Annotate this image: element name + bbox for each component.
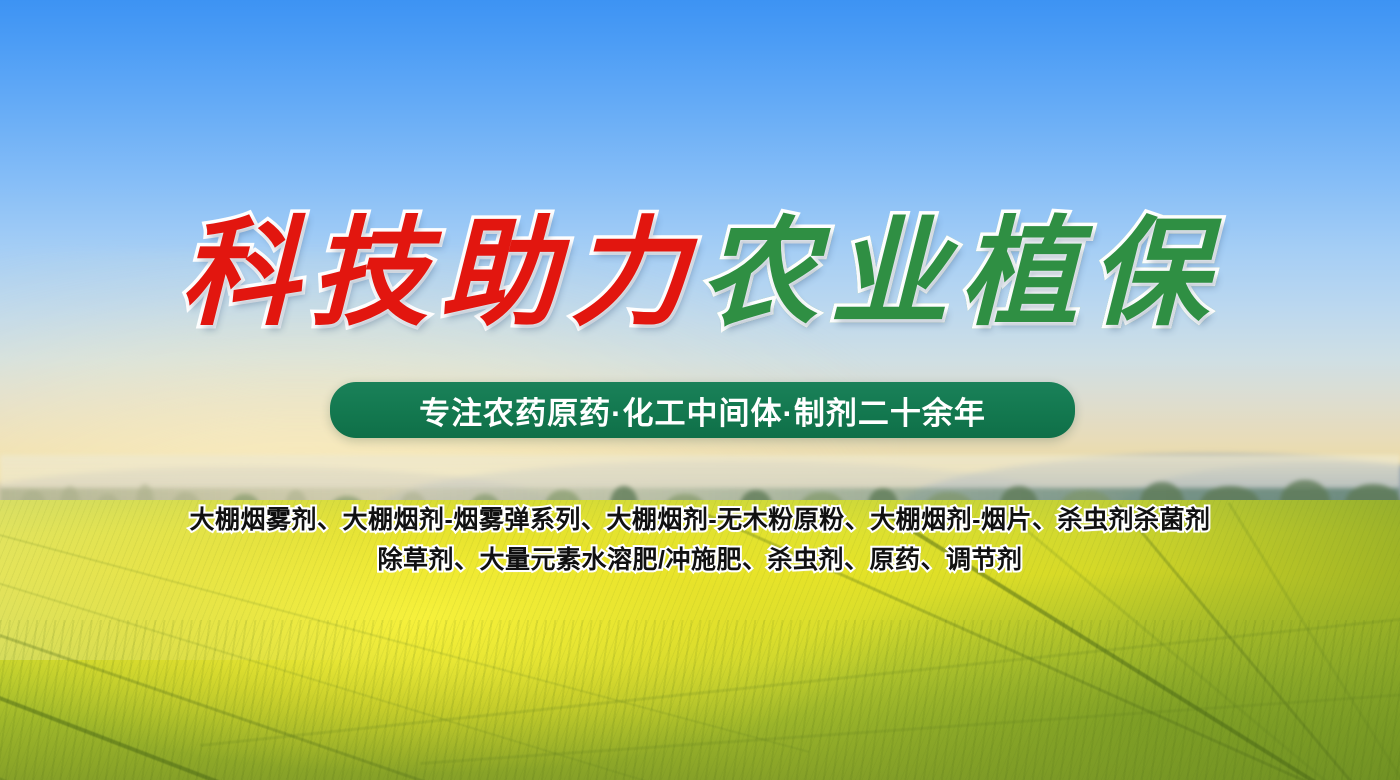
field-bottom-shade <box>0 660 1400 780</box>
product-list: 大棚烟雾剂、大棚烟剂-烟雾弹系列、大棚烟剂-无木粉原粉、大棚烟剂-烟片、杀虫剂杀… <box>0 500 1400 580</box>
page-title: 科技助力农业植保 <box>0 214 1400 332</box>
subtitle-pill: 专注农药原药·化工中间体·制剂二十余年 <box>330 382 1075 438</box>
subtitle-text: 专注农药原药·化工中间体·制剂二十余年 <box>419 388 986 433</box>
product-line-2: 除草剂、大量元素水溶肥/冲施肥、杀虫剂、原药、调节剂 <box>0 540 1400 580</box>
promo-banner: 科技助力农业植保 专注农药原药·化工中间体·制剂二十余年 大棚烟雾剂、大棚烟剂-… <box>0 0 1400 780</box>
headline-segment-red: 科技助力 <box>180 214 700 332</box>
headline-segment-green: 农业植保 <box>700 214 1220 332</box>
product-line-1: 大棚烟雾剂、大棚烟剂-烟雾弹系列、大棚烟剂-无木粉原粉、大棚烟剂-烟片、杀虫剂杀… <box>0 500 1400 540</box>
